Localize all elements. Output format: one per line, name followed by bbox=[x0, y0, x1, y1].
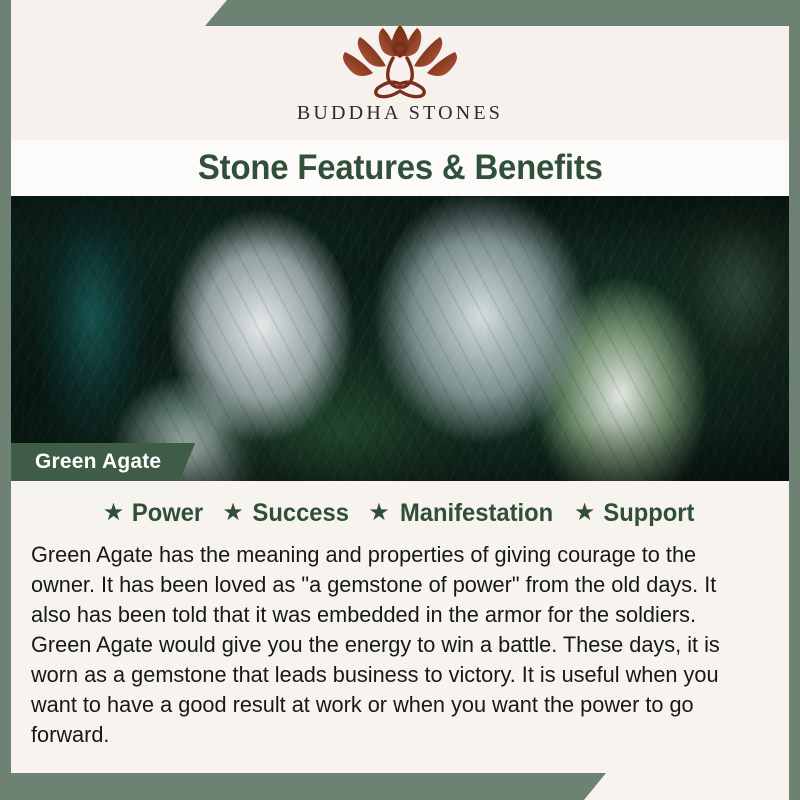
card-inner: BUDDHA STONES Stone Features & Benefits … bbox=[11, 0, 789, 800]
stone-name-banner: Green Agate bbox=[11, 443, 195, 481]
stone-description: Green Agate has the meaning and properti… bbox=[31, 540, 743, 750]
title-band: Stone Features & Benefits bbox=[11, 140, 789, 196]
benefit-item-support: ★ Support bbox=[574, 499, 697, 528]
benefit-item-power: ★ Power bbox=[103, 499, 206, 528]
benefit-label: Support bbox=[604, 499, 695, 528]
benefit-label: Manifestation bbox=[400, 499, 553, 528]
lotus-meditation-icon bbox=[325, 16, 475, 100]
benefit-label: Success bbox=[252, 499, 348, 528]
frame-right-bar bbox=[789, 0, 800, 800]
star-icon: ★ bbox=[368, 501, 390, 525]
page-title: Stone Features & Benefits bbox=[198, 148, 603, 188]
frame-left-bar bbox=[0, 0, 11, 800]
benefit-item-manifestation: ★ Manifestation bbox=[368, 499, 557, 528]
stone-body: ★ Power ★ Success ★ Manifestation ★ Supp… bbox=[11, 481, 789, 800]
brand-name: BUDDHA STONES bbox=[297, 102, 503, 125]
benefit-item-success: ★ Success bbox=[222, 499, 351, 528]
frame-bottom-bar bbox=[0, 773, 606, 800]
star-icon: ★ bbox=[574, 501, 596, 525]
stone-info-card: BUDDHA STONES Stone Features & Benefits … bbox=[0, 0, 800, 800]
star-icon: ★ bbox=[103, 501, 125, 525]
star-icon: ★ bbox=[222, 501, 244, 525]
benefit-label: Power bbox=[132, 499, 203, 528]
benefits-row: ★ Power ★ Success ★ Manifestation ★ Supp… bbox=[31, 495, 769, 531]
frame-top-bar bbox=[205, 0, 800, 26]
stone-photo: Green Agate bbox=[11, 196, 789, 481]
stone-name-label: Green Agate bbox=[35, 450, 161, 474]
stone-photo-layer-shade bbox=[11, 196, 789, 481]
